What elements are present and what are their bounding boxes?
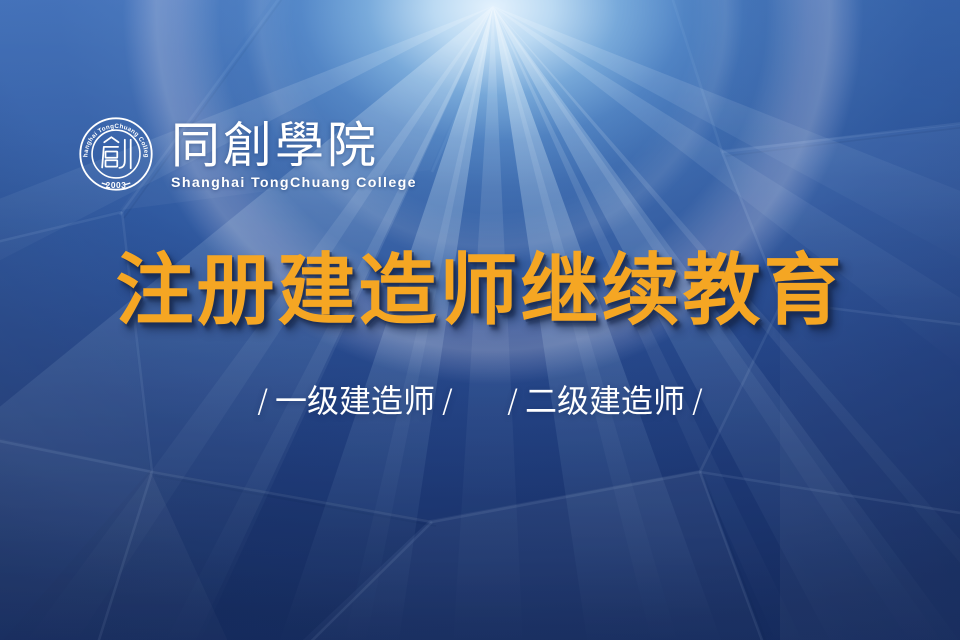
college-logo: Shanghai TongChuang College: [74, 112, 417, 196]
svg-text:2003: 2003: [106, 180, 127, 190]
course-level-one-label: 一级建造师: [275, 382, 435, 420]
course-levels: /一级建造师/ /二级建造师/: [0, 378, 960, 424]
course-promo-banner: Shanghai TongChuang College: [0, 0, 960, 640]
college-name-cn: 同創學院: [171, 121, 417, 170]
course-level-two: /二级建造师/: [490, 382, 710, 420]
college-name-block: 同創學院 Shanghai TongChuang College: [171, 118, 417, 190]
banner-content: Shanghai TongChuang College: [0, 0, 960, 640]
slash-right-two: /: [685, 382, 710, 420]
course-level-one: /一级建造师/: [250, 382, 470, 420]
slash-right-one: /: [435, 382, 460, 420]
course-level-two-label: 二级建造师: [525, 382, 685, 420]
college-seal-icon: Shanghai TongChuang College: [74, 112, 158, 196]
page-title: 注册建造师继续教育: [0, 243, 960, 339]
college-name-en: Shanghai TongChuang College: [171, 176, 417, 190]
slash-left-two: /: [500, 382, 525, 420]
slash-left-one: /: [250, 382, 275, 420]
